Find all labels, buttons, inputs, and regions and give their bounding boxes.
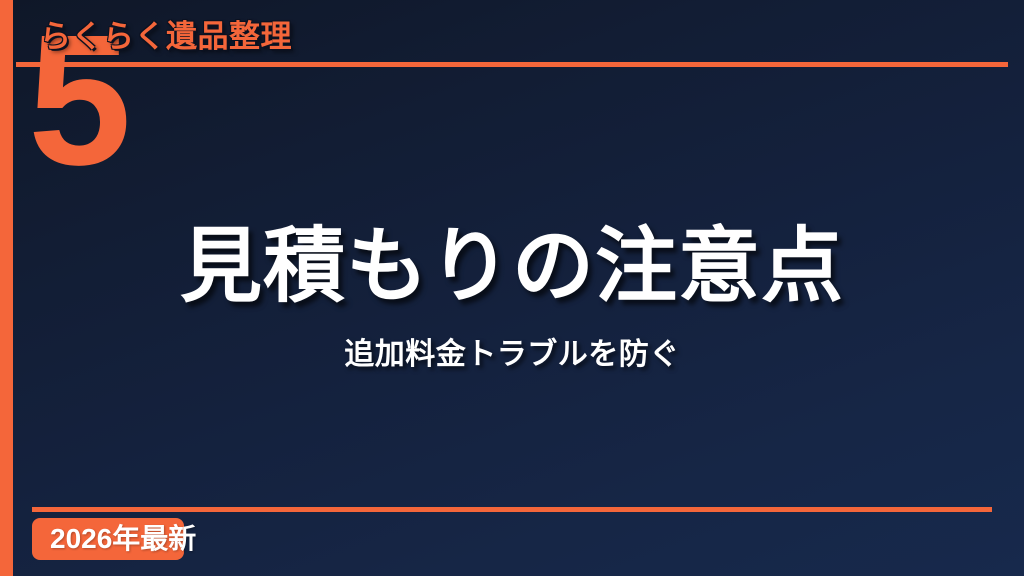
top-divider-rule: [16, 62, 1008, 67]
main-content: 見積もりの注意点 追加料金トラブルを防ぐ: [0, 0, 1024, 576]
status-badge-label: 2026年最新: [50, 525, 196, 553]
page-subtitle: 追加料金トラブルを防ぐ: [344, 337, 680, 373]
brand-label: らくらく遺品整理: [40, 21, 292, 52]
slide-canvas: 5 らくらく遺品整理 見積もりの注意点 追加料金トラブルを防ぐ 2026年最新: [0, 0, 1024, 576]
bottom-divider-rule: [32, 507, 992, 512]
status-badge: 2026年最新: [32, 518, 184, 560]
left-accent-bar: [0, 0, 13, 576]
page-title: 見積もりの注意点: [180, 221, 844, 313]
